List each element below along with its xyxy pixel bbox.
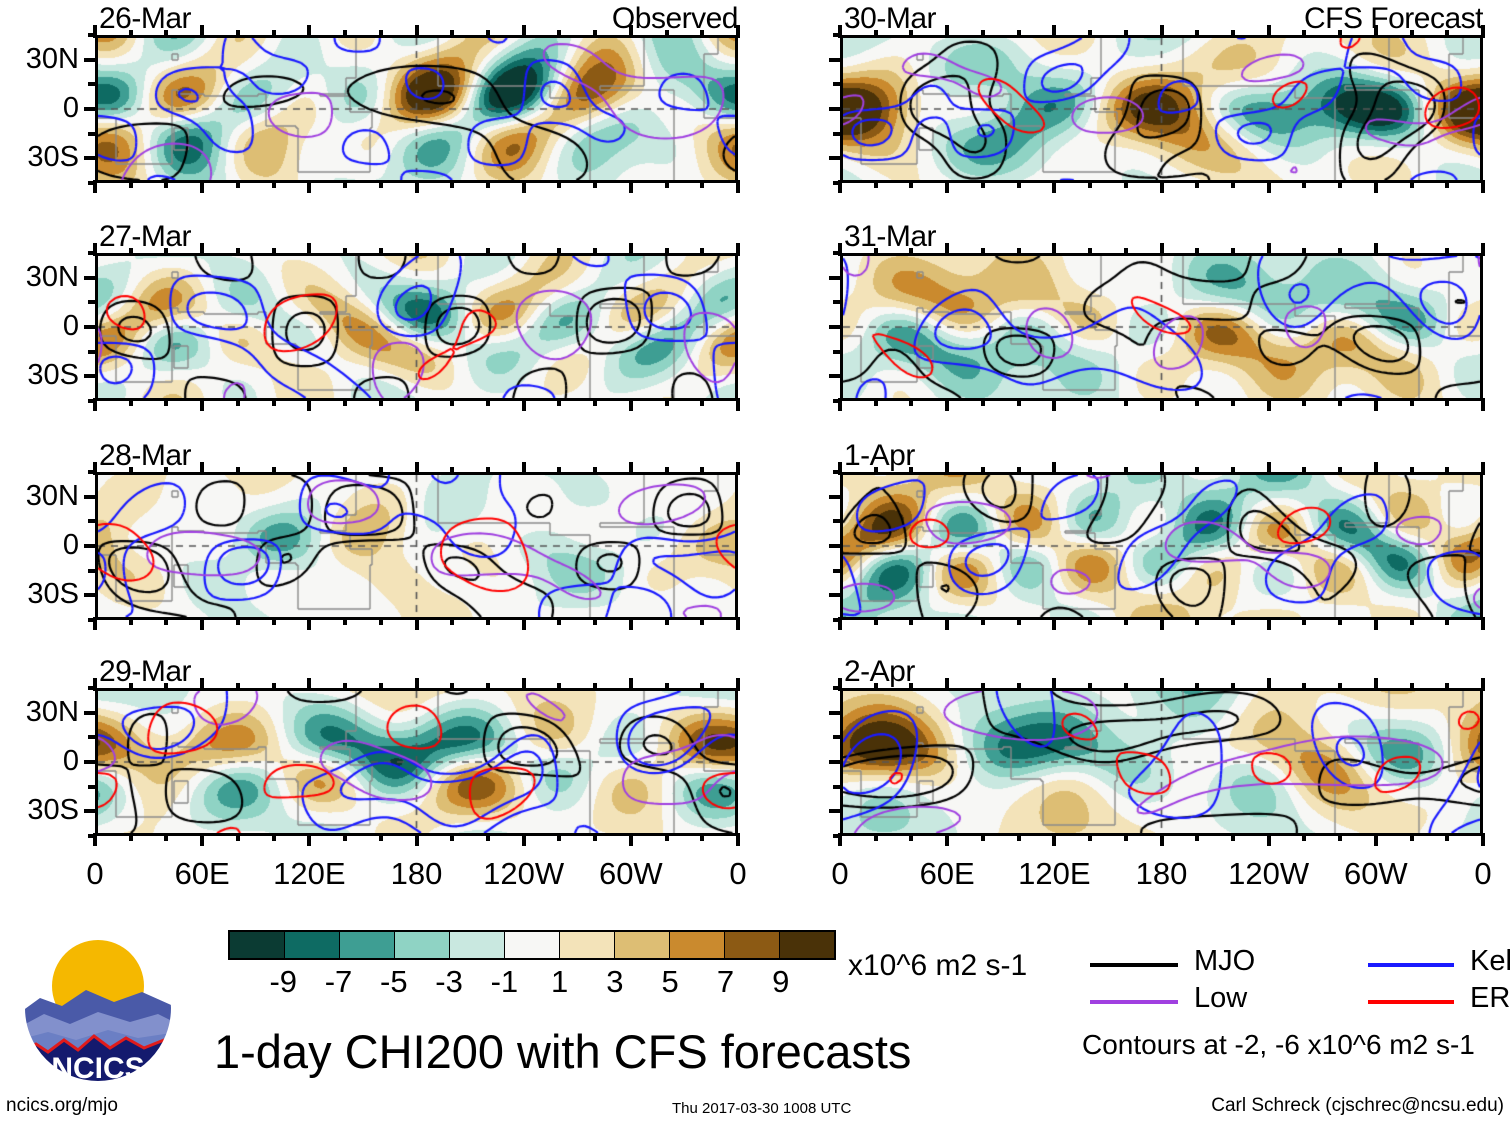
x-tick: [945, 833, 949, 846]
colorbar-swatch: [230, 932, 285, 958]
panel-date-label: 2-Apr: [844, 657, 915, 687]
x-tick: [1052, 678, 1056, 691]
x-tick-minor: [1410, 30, 1414, 38]
x-tick: [838, 398, 842, 411]
y-tick-label: 30N: [0, 482, 79, 511]
colorbar-swatch: [450, 932, 505, 958]
colorbar-swatch: [780, 932, 834, 958]
y-tick-minor: [833, 519, 842, 523]
y-tick: [829, 593, 842, 597]
x-tick: [1481, 243, 1485, 256]
x-tick: [307, 678, 311, 691]
x-tick-minor: [272, 30, 276, 38]
y-tick-label: 30N: [0, 263, 79, 292]
y-tick: [84, 374, 97, 378]
x-tick-minor: [486, 180, 490, 188]
x-tick: [1052, 180, 1056, 193]
panel-date-label: 26-Mar: [99, 4, 191, 34]
x-tick-minor: [1445, 683, 1449, 691]
x-tick-minor: [874, 833, 878, 841]
colorbar-swatch: [670, 932, 725, 958]
x-tick-minor: [909, 180, 913, 188]
x-tick: [522, 398, 526, 411]
panel-date-label: 1-Apr: [844, 441, 915, 471]
x-tick-minor: [129, 30, 133, 38]
x-tick: [1160, 243, 1164, 256]
x-tick-minor: [1410, 180, 1414, 188]
x-tick: [1160, 833, 1164, 846]
x-tick-minor: [665, 683, 669, 691]
x-tick: [1267, 398, 1271, 411]
x-tick-minor: [593, 683, 597, 691]
x-tick: [200, 462, 204, 475]
colorbar-swatch: [505, 932, 560, 958]
x-tick: [838, 678, 842, 691]
x-tick: [736, 25, 740, 38]
y-tick-minor: [88, 735, 97, 739]
x-tick-minor: [700, 683, 704, 691]
y-tick-minor: [88, 785, 97, 789]
x-tick: [1160, 462, 1164, 475]
x-tick-minor: [272, 398, 276, 406]
map-field: [98, 38, 735, 180]
x-tick: [838, 833, 842, 846]
x-tick-minor: [1302, 617, 1306, 625]
x-tick-minor: [700, 617, 704, 625]
legend-label: ER: [1470, 984, 1510, 1013]
x-tick-minor: [1338, 617, 1342, 625]
x-tick: [1160, 678, 1164, 691]
map-field: [843, 691, 1480, 833]
x-tick-minor: [1231, 30, 1235, 38]
x-tick-minor: [665, 467, 669, 475]
x-tick-minor: [272, 467, 276, 475]
x-tick: [629, 25, 633, 38]
logo-text: NCICS: [51, 1052, 144, 1085]
y-tick: [829, 156, 842, 160]
x-tick: [629, 180, 633, 193]
x-tick: [1374, 25, 1378, 38]
x-tick: [945, 243, 949, 256]
x-tick-minor: [874, 467, 878, 475]
y-tick-label: 30S: [0, 361, 79, 390]
x-tick-minor: [236, 833, 240, 841]
x-tick-minor: [379, 30, 383, 38]
x-tick-minor: [909, 467, 913, 475]
x-tick: [1267, 678, 1271, 691]
x-tick-minor: [909, 617, 913, 625]
x-tick-minor: [1231, 398, 1235, 406]
x-tick: [838, 462, 842, 475]
x-tick: [522, 243, 526, 256]
x-tick: [1374, 678, 1378, 691]
map-field: [843, 475, 1480, 617]
x-tick-minor: [164, 248, 168, 256]
x-tick-minor: [981, 467, 985, 475]
map-panel: [840, 35, 1483, 183]
x-tick-minor: [486, 617, 490, 625]
x-tick-minor: [379, 398, 383, 406]
x-tick-minor: [1338, 180, 1342, 188]
x-tick-minor: [1445, 248, 1449, 256]
x-tick-minor: [1338, 467, 1342, 475]
x-tick: [93, 833, 97, 846]
x-tick-minor: [700, 398, 704, 406]
x-tick-minor: [1302, 248, 1306, 256]
x-tick-minor: [1445, 467, 1449, 475]
x-tick: [1481, 25, 1485, 38]
x-tick-minor: [343, 833, 347, 841]
x-tick-minor: [909, 248, 913, 256]
x-tick-minor: [343, 683, 347, 691]
x-tick-minor: [700, 248, 704, 256]
x-tick: [629, 833, 633, 846]
x-tick-minor: [450, 467, 454, 475]
x-tick: [945, 180, 949, 193]
x-tick: [93, 617, 97, 630]
x-tick-minor: [1124, 467, 1128, 475]
x-tick-minor: [1302, 833, 1306, 841]
x-tick-minor: [450, 398, 454, 406]
y-tick: [84, 544, 97, 548]
x-tick-minor: [700, 833, 704, 841]
x-tick-minor: [1410, 833, 1414, 841]
x-tick-minor: [272, 683, 276, 691]
y-tick: [829, 711, 842, 715]
x-tick: [1267, 180, 1271, 193]
x-tick: [307, 25, 311, 38]
y-tick: [84, 276, 97, 280]
x-tick-minor: [981, 30, 985, 38]
x-tick: [838, 617, 842, 630]
y-tick: [829, 495, 842, 499]
x-tick-minor: [486, 467, 490, 475]
y-tick-label: 30S: [0, 580, 79, 609]
x-tick-minor: [557, 248, 561, 256]
x-tick-minor: [1195, 833, 1199, 841]
x-tick: [945, 462, 949, 475]
x-tick: [415, 180, 419, 193]
legend-line-low: [1090, 1000, 1178, 1004]
y-tick-minor: [833, 569, 842, 573]
x-tick-minor: [1088, 467, 1092, 475]
x-tick-minor: [981, 683, 985, 691]
x-tick-minor: [557, 30, 561, 38]
x-tick-minor: [1195, 398, 1199, 406]
x-tick-minor: [1124, 617, 1128, 625]
x-tick-minor: [1017, 833, 1021, 841]
x-tick-minor: [909, 683, 913, 691]
x-tick-minor: [1410, 248, 1414, 256]
x-tick: [1481, 398, 1485, 411]
x-tick-minor: [1338, 248, 1342, 256]
legend-line-mjo: [1090, 963, 1178, 967]
y-tick-minor: [88, 569, 97, 573]
x-tick: [1052, 398, 1056, 411]
x-tick-minor: [874, 617, 878, 625]
x-tick-minor: [557, 467, 561, 475]
x-tick-label: 0: [1413, 858, 1510, 889]
y-tick-minor: [833, 350, 842, 354]
x-tick-minor: [909, 833, 913, 841]
x-tick-minor: [593, 248, 597, 256]
x-tick: [1374, 833, 1378, 846]
x-tick: [93, 678, 97, 691]
x-tick-minor: [1017, 30, 1021, 38]
x-tick-minor: [379, 180, 383, 188]
x-tick-minor: [343, 248, 347, 256]
y-tick-minor: [88, 519, 97, 523]
x-tick-minor: [129, 398, 133, 406]
x-tick: [838, 180, 842, 193]
x-tick-minor: [1088, 683, 1092, 691]
map-panel: [95, 688, 738, 836]
x-tick: [736, 617, 740, 630]
x-tick-minor: [450, 617, 454, 625]
x-tick: [415, 833, 419, 846]
x-tick-minor: [450, 248, 454, 256]
x-tick: [307, 398, 311, 411]
x-tick-minor: [486, 248, 490, 256]
x-tick-minor: [1017, 617, 1021, 625]
colorbar-swatch: [615, 932, 670, 958]
x-tick-minor: [343, 467, 347, 475]
y-tick-label: 30N: [0, 698, 79, 727]
x-tick: [1160, 180, 1164, 193]
x-tick-minor: [665, 833, 669, 841]
x-tick: [736, 398, 740, 411]
x-tick: [307, 462, 311, 475]
x-tick-minor: [1410, 467, 1414, 475]
x-tick: [93, 180, 97, 193]
x-tick: [415, 462, 419, 475]
y-tick-label: 0: [0, 747, 79, 776]
x-tick-minor: [981, 617, 985, 625]
x-tick: [415, 243, 419, 256]
y-tick-minor: [88, 82, 97, 86]
x-tick-minor: [1338, 683, 1342, 691]
x-tick-minor: [1410, 617, 1414, 625]
x-tick-minor: [557, 683, 561, 691]
colorbar-swatch: [285, 932, 340, 958]
x-tick: [1481, 833, 1485, 846]
x-tick-minor: [1017, 180, 1021, 188]
x-tick: [200, 678, 204, 691]
panel-date-label: 28-Mar: [99, 441, 191, 471]
x-tick: [1267, 243, 1271, 256]
map-panel: [840, 688, 1483, 836]
x-tick-minor: [981, 398, 985, 406]
x-tick-minor: [379, 617, 383, 625]
x-tick: [1374, 398, 1378, 411]
x-tick: [1481, 180, 1485, 193]
x-tick-minor: [1445, 833, 1449, 841]
x-tick-minor: [593, 180, 597, 188]
legend-line-kelvin-x2: [1368, 963, 1454, 967]
x-tick: [1052, 833, 1056, 846]
x-tick-minor: [343, 617, 347, 625]
y-tick-minor: [88, 132, 97, 136]
x-tick-minor: [379, 248, 383, 256]
x-tick-minor: [1195, 248, 1199, 256]
map-field: [98, 256, 735, 398]
x-tick: [200, 25, 204, 38]
x-tick: [629, 243, 633, 256]
x-tick: [415, 398, 419, 411]
y-tick-label: 30S: [0, 796, 79, 825]
footer-left: ncics.org/mjo: [6, 1096, 118, 1115]
x-tick-minor: [1302, 30, 1306, 38]
x-tick-minor: [129, 180, 133, 188]
x-tick-minor: [272, 833, 276, 841]
x-tick: [200, 617, 204, 630]
x-tick-minor: [272, 617, 276, 625]
x-tick: [1374, 617, 1378, 630]
x-tick-minor: [129, 683, 133, 691]
x-tick-minor: [557, 398, 561, 406]
x-tick-minor: [1302, 467, 1306, 475]
x-tick-minor: [450, 30, 454, 38]
x-tick: [1052, 462, 1056, 475]
x-tick: [307, 833, 311, 846]
x-tick: [945, 25, 949, 38]
x-tick-minor: [700, 30, 704, 38]
x-tick: [1481, 462, 1485, 475]
x-tick-minor: [874, 180, 878, 188]
map-panel: [95, 472, 738, 620]
x-tick-minor: [379, 683, 383, 691]
y-tick-label: 30S: [0, 143, 79, 172]
x-tick: [1160, 617, 1164, 630]
x-tick-minor: [665, 30, 669, 38]
x-tick-minor: [164, 617, 168, 625]
y-tick-minor: [88, 350, 97, 354]
x-tick-minor: [450, 683, 454, 691]
y-tick-label: 0: [0, 94, 79, 123]
legend-label: Low: [1194, 984, 1247, 1013]
colorbar-group: -9-7-5-3-113579: [228, 930, 836, 1002]
x-tick: [838, 25, 842, 38]
chart-title: 1-day CHI200 with CFS forecasts: [214, 1028, 911, 1075]
x-tick-minor: [1338, 398, 1342, 406]
y-tick: [829, 374, 842, 378]
x-tick: [1374, 180, 1378, 193]
map-panel: [95, 253, 738, 401]
x-tick-minor: [981, 833, 985, 841]
x-tick-minor: [450, 180, 454, 188]
x-tick-minor: [1445, 617, 1449, 625]
x-tick: [415, 678, 419, 691]
x-tick-minor: [1410, 683, 1414, 691]
x-tick: [1481, 617, 1485, 630]
x-tick: [629, 462, 633, 475]
y-tick: [829, 58, 842, 62]
legend-line-er: [1368, 1000, 1454, 1004]
ncics-logo: NCICS: [18, 928, 178, 1088]
x-tick-minor: [981, 180, 985, 188]
x-tick-minor: [164, 180, 168, 188]
x-tick-minor: [874, 398, 878, 406]
x-tick-minor: [665, 248, 669, 256]
x-tick-minor: [129, 467, 133, 475]
x-tick-minor: [1124, 833, 1128, 841]
x-tick: [629, 617, 633, 630]
x-tick-minor: [700, 467, 704, 475]
x-tick: [1374, 462, 1378, 475]
x-tick-minor: [593, 833, 597, 841]
map-panel: [95, 35, 738, 183]
x-tick-minor: [486, 30, 490, 38]
x-tick: [945, 398, 949, 411]
x-tick-minor: [593, 398, 597, 406]
legend-label: MJO: [1194, 947, 1255, 976]
x-tick-minor: [236, 248, 240, 256]
x-tick: [945, 617, 949, 630]
x-tick: [1374, 243, 1378, 256]
x-tick: [1160, 398, 1164, 411]
x-tick: [1267, 833, 1271, 846]
x-tick: [1267, 462, 1271, 475]
panel-date-label: 29-Mar: [99, 657, 191, 687]
x-tick-minor: [343, 30, 347, 38]
x-tick-minor: [1195, 683, 1199, 691]
y-tick-minor: [833, 132, 842, 136]
y-tick: [829, 276, 842, 280]
y-tick: [84, 593, 97, 597]
x-tick-minor: [1124, 180, 1128, 188]
x-tick-minor: [1088, 180, 1092, 188]
y-tick: [829, 809, 842, 813]
x-tick-minor: [1017, 467, 1021, 475]
colorbar-swatch: [340, 932, 395, 958]
colorbar-swatch: [395, 932, 450, 958]
y-tick-label: 0: [0, 531, 79, 560]
x-tick-minor: [1088, 248, 1092, 256]
x-tick-minor: [1231, 617, 1235, 625]
x-tick-minor: [1124, 248, 1128, 256]
x-tick-minor: [1017, 248, 1021, 256]
x-tick: [1052, 617, 1056, 630]
y-tick: [84, 58, 97, 62]
x-tick: [522, 678, 526, 691]
x-tick-minor: [379, 833, 383, 841]
x-tick: [93, 398, 97, 411]
x-tick-minor: [665, 180, 669, 188]
x-tick-minor: [593, 617, 597, 625]
x-tick-minor: [1302, 398, 1306, 406]
y-tick-minor: [833, 82, 842, 86]
x-tick-minor: [1017, 398, 1021, 406]
x-tick-minor: [1124, 398, 1128, 406]
y-tick: [829, 325, 842, 329]
x-tick: [1267, 25, 1271, 38]
x-tick-minor: [1088, 617, 1092, 625]
x-tick-minor: [129, 617, 133, 625]
x-tick: [522, 833, 526, 846]
x-tick-minor: [236, 683, 240, 691]
x-tick-minor: [486, 683, 490, 691]
x-tick: [200, 398, 204, 411]
x-tick: [93, 462, 97, 475]
x-tick-minor: [557, 617, 561, 625]
y-tick: [84, 809, 97, 813]
x-tick: [1052, 243, 1056, 256]
x-tick: [1052, 25, 1056, 38]
x-tick-minor: [343, 398, 347, 406]
x-tick-minor: [343, 180, 347, 188]
x-tick: [415, 617, 419, 630]
x-tick-minor: [236, 467, 240, 475]
